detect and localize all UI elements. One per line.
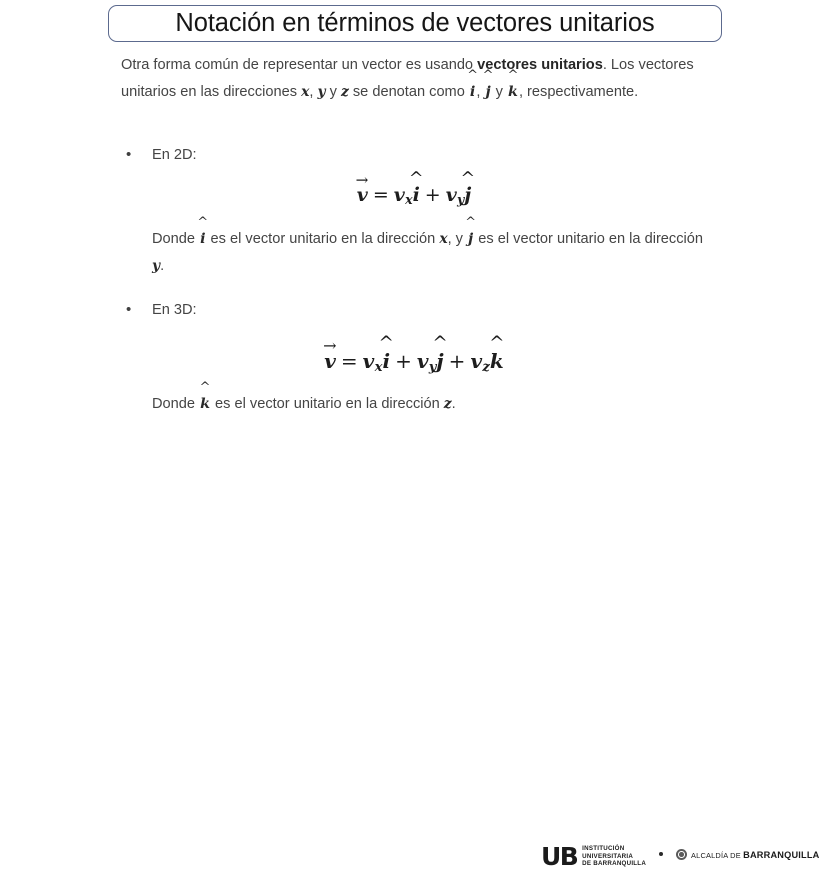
- slide-footer: UB INSTITUCIÓN UNIVERSITARIA DE BARRANQU…: [0, 420, 828, 466]
- ub-logo-line-2: UNIVERSITARIA: [582, 853, 633, 860]
- intro-text-3: se denotan como: [349, 84, 469, 100]
- ub-logo-text: INSTITUCIÓN UNIVERSITARIA DE BARRANQUILL…: [582, 845, 646, 868]
- alcaldia-seal-icon: [676, 849, 687, 860]
- explanation-2d-var-x: x: [439, 231, 447, 247]
- intro-text-1: Otra forma común de representar un vecto…: [121, 57, 477, 73]
- page-title: Notación en términos de vectores unitari…: [175, 11, 654, 37]
- formula-2d-plus-1: +: [425, 184, 441, 206]
- formula-3d-plus-1: +: [395, 349, 412, 373]
- explanation-3d: Donde k es el vector unitario en la dire…: [152, 391, 704, 418]
- bullet-item-3d: • En 3D:: [126, 302, 197, 318]
- explanation-2d-text-1: Donde: [152, 231, 199, 247]
- formula-3d-coef-2: v: [417, 349, 429, 373]
- ub-logo-line-3: DE BARRANQUILLA: [582, 860, 646, 867]
- bullet-label-2d: En 2D:: [152, 148, 197, 163]
- explanation-3d-text-2: es el vector unitario en la dirección: [211, 396, 444, 412]
- explanation-2d: Donde i es el vector unitario en la dire…: [152, 226, 704, 280]
- bullet-dot-icon: •: [126, 147, 140, 162]
- intro-sep-2: y: [326, 84, 341, 100]
- formula-3d-sub-1: x: [375, 360, 383, 375]
- formula-3d-unit-j-icon: j: [436, 349, 443, 373]
- intro-paragraph: Otra forma común de representar un vecto…: [121, 52, 699, 106]
- formula-3d-equals: =: [341, 349, 358, 373]
- inline-hat-k-icon: k: [508, 79, 518, 106]
- inline-hat-i-icon: i: [470, 79, 475, 106]
- formula-3d-lhs: v: [324, 349, 336, 373]
- formula-2d-equals: =: [373, 184, 389, 206]
- formula-3d-plus-2: +: [449, 349, 466, 373]
- formula-3d: v=vxi+vyj+vzk: [0, 349, 828, 375]
- formula-2d-unit-j-icon: j: [464, 184, 471, 206]
- explanation-3d-text-1: Donde: [152, 396, 199, 412]
- ub-logo-line-1: INSTITUCIÓN: [582, 845, 624, 852]
- formula-3d-sub-3: z: [482, 360, 490, 375]
- alcaldia-logo-text: ALCALDÍA DE BARRANQUILLA: [691, 850, 820, 860]
- explanation-2d-var-y: y: [152, 258, 160, 274]
- inline-hat-j-icon: j: [485, 79, 490, 106]
- alcaldia-city: BARRANQUILLA: [743, 850, 819, 860]
- intro-sep-4: y: [492, 84, 507, 100]
- explanation-2d-hat-j-icon: j: [468, 226, 473, 253]
- explanation-2d-hat-i-icon: i: [200, 226, 205, 253]
- formula-2d-unit-i-icon: i: [413, 184, 420, 206]
- formula-2d-coef-2: v: [446, 184, 457, 206]
- inline-var-y: y: [317, 84, 325, 100]
- bullet-item-2d: • En 2D:: [126, 147, 197, 163]
- explanation-2d-text-2: es el vector unitario en la dirección: [207, 231, 440, 247]
- slide-title-box: Notación en términos de vectores unitari…: [108, 5, 722, 42]
- formula-2d: v=vxi+vyj: [0, 184, 828, 207]
- intro-sep-3: ,: [476, 84, 484, 100]
- formula-2d-lhs: v: [357, 184, 368, 206]
- explanation-3d-text-3: .: [452, 396, 456, 412]
- intro-bold-term: vectores unitarios: [477, 57, 603, 73]
- ub-logo: UB INSTITUCIÓN UNIVERSITARIA DE BARRANQU…: [541, 844, 646, 869]
- formula-2d-coef-1: v: [394, 184, 405, 206]
- inline-var-z: z: [341, 84, 349, 100]
- explanation-2d-text-4: es el vector unitario en la dirección: [474, 231, 703, 247]
- alcaldia-logo: ALCALDÍA DE BARRANQUILLA: [676, 849, 820, 860]
- explanation-2d-text-5: .: [160, 258, 164, 274]
- explanation-2d-text-3: , y: [448, 231, 467, 247]
- intro-text-4: , respectivamente.: [519, 84, 638, 100]
- bullet-label-3d: En 3D:: [152, 303, 197, 318]
- alcaldia-prefix: ALCALDÍA DE: [691, 851, 743, 860]
- bullet-dot-icon: •: [126, 302, 140, 317]
- explanation-3d-hat-k-icon: k: [200, 391, 210, 418]
- formula-2d-sub-1: x: [405, 192, 412, 207]
- footer-separator-dot-icon: [659, 852, 663, 856]
- formula-3d-coef-3: v: [470, 349, 482, 373]
- formula-3d-unit-k-icon: k: [490, 349, 504, 373]
- formula-3d-unit-i-icon: i: [382, 349, 390, 373]
- formula-3d-coef-1: v: [363, 349, 375, 373]
- explanation-3d-var-z: z: [444, 396, 452, 412]
- ub-monogram-icon: UB: [541, 844, 577, 869]
